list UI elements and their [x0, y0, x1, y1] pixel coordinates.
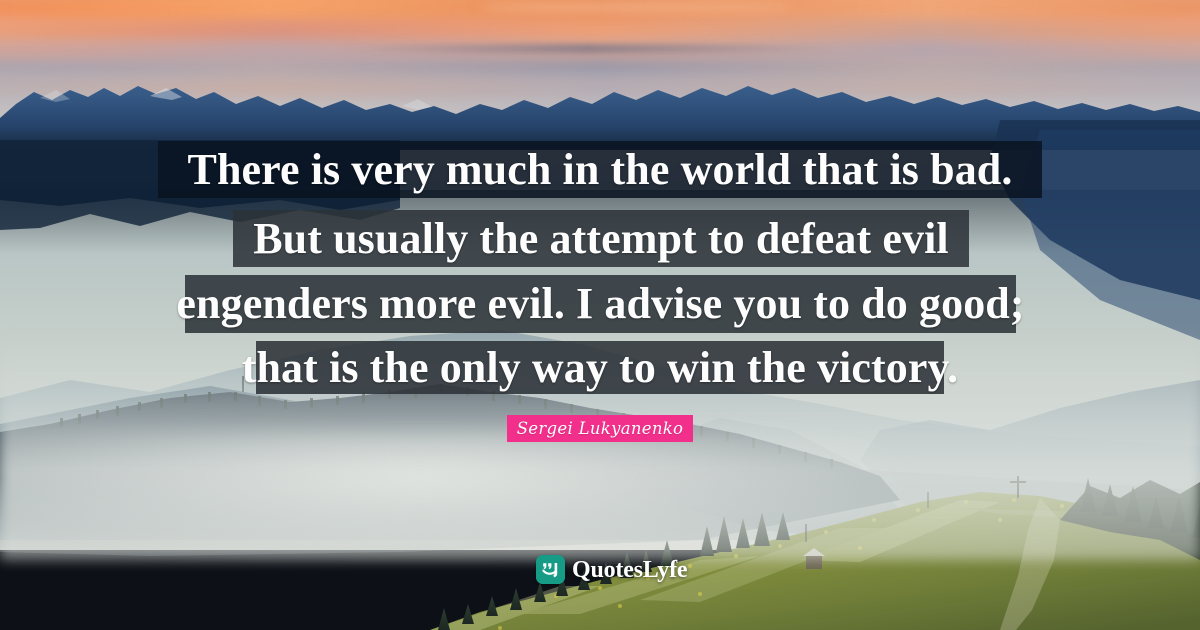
quote-card: There is very much in the world that is …: [0, 0, 1200, 630]
quote-line-3: engenders more evil. I advise you to do …: [185, 275, 1016, 333]
author-badge[interactable]: Sergei Lukyanenko: [507, 415, 693, 442]
brand-logo[interactable]: QuotesLyfe: [536, 555, 687, 584]
quote-line-1: There is very much in the world that is …: [158, 141, 1042, 198]
brand-name: QuotesLyfe: [572, 558, 687, 582]
quote-line-2: But usually the attempt to defeat evil: [233, 210, 969, 267]
quote-line-4: that is the only way to win the victory.: [256, 341, 944, 394]
quote-smiley-icon: [536, 555, 565, 584]
